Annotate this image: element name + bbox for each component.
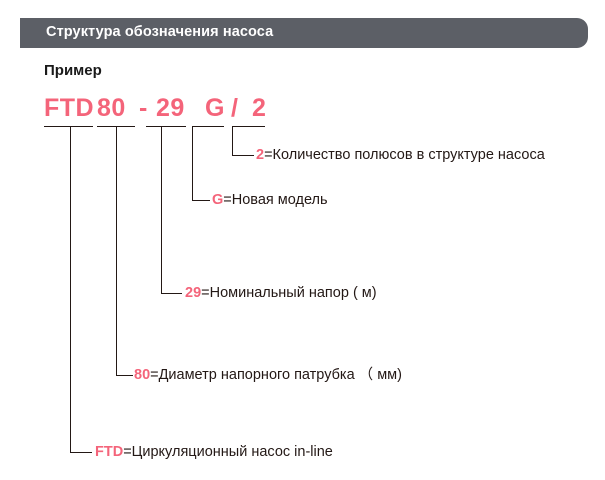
legend-eq-80: = (150, 367, 158, 383)
model-code: FTD80-29G/2 (44, 94, 268, 123)
leader-vertical-29 (161, 126, 162, 294)
model-code-part-2: 2 (252, 94, 268, 123)
leader-connector-ftd (70, 452, 92, 453)
leader-underline-ftd (44, 126, 93, 127)
model-code-part-29: 29 (156, 94, 198, 123)
model-code-part-slash: / (231, 94, 248, 123)
legend-desc-80: Диаметр напорного патрубка （ мм) (159, 367, 402, 383)
legend-eq-ftd: = (123, 444, 131, 460)
legend-desc-g: Новая модель (232, 192, 328, 208)
example-heading: Пример (44, 62, 102, 79)
legend-key-2: 2 (256, 147, 264, 163)
leader-vertical-g (192, 126, 193, 201)
leader-underline-2 (232, 126, 265, 127)
leader-connector-80 (116, 375, 133, 376)
legend-key-g: G (212, 192, 223, 208)
model-code-part-dash: - (139, 94, 153, 123)
legend-key-80: 80 (134, 367, 150, 383)
legend-desc-ftd: Циркуляционный насос in-line (132, 444, 333, 460)
leader-connector-g (192, 200, 210, 201)
leader-underline-g (192, 126, 224, 127)
leader-vertical-2 (232, 126, 233, 156)
legend-key-ftd: FTD (95, 444, 123, 460)
legend-item-2: 2=Количество полюсов в структуре насоса (256, 148, 545, 163)
leader-vertical-80 (116, 126, 117, 376)
model-code-part-ftd: FTD (44, 94, 93, 123)
model-code-part-g: G (205, 94, 228, 123)
legend-item-29: 29=Номинальный напор ( м) (185, 286, 377, 301)
model-code-part-80: 80 (97, 94, 139, 123)
legend-item-ftd: FTD=Циркуляционный насос in-line (95, 445, 333, 460)
legend-eq-g: = (223, 192, 231, 208)
page-title: Структура обозначения насоса (46, 24, 273, 40)
legend-desc-2: Количество полюсов в структуре насоса (273, 147, 545, 163)
diagram-root: Структура обозначения насоса Пример FTD8… (0, 0, 605, 480)
legend-eq-29: = (201, 285, 209, 301)
legend-eq-2: = (264, 147, 272, 163)
legend-desc-29: Номинальный напор ( м) (210, 285, 377, 301)
legend-item-80: 80=Диаметр напорного патрубка （ мм) (134, 368, 402, 383)
legend-key-29: 29 (185, 285, 201, 301)
leader-vertical-ftd (70, 126, 71, 453)
header-bar: Структура обозначения насоса (20, 18, 588, 48)
leader-underline-29 (146, 126, 186, 127)
leader-connector-2 (232, 155, 254, 156)
leader-connector-29 (161, 293, 182, 294)
legend-item-g: G=Новая модель (212, 193, 328, 208)
